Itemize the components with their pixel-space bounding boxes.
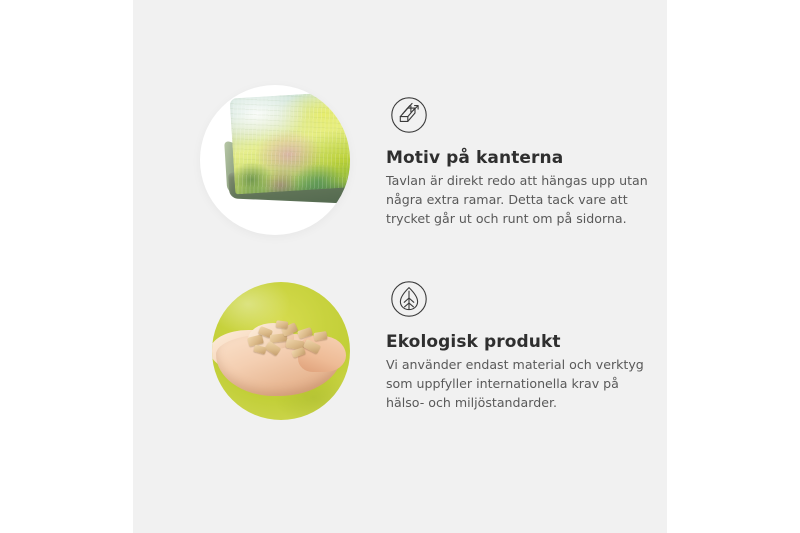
feature-block-ekologisk-produkt: Ekologisk produkt Vi använder endast mat… (133, 262, 667, 442)
product-feature-panel: Motiv på kanterna Tavlan är direkt redo … (0, 0, 800, 533)
feature-text-motiv-pa-kanterna: Motiv på kanterna Tavlan är direkt redo … (386, 148, 658, 228)
canvas-wrap-edge-icon (388, 94, 430, 136)
wood-chips-pile (246, 320, 330, 358)
feature-description: Vi använder endast material och verktyg … (386, 356, 658, 412)
hands-illustration (212, 282, 350, 420)
canvas-print-illustration (224, 91, 350, 214)
feature-image-canvas-print (200, 85, 350, 235)
feature-image-hands-wood-chips (212, 282, 350, 420)
content-panel: Motiv på kanterna Tavlan är direkt redo … (133, 0, 667, 533)
leaf-icon (388, 278, 430, 320)
feature-title: Motiv på kanterna (386, 148, 658, 168)
feature-text-ekologisk-produkt: Ekologisk produkt Vi använder endast mat… (386, 332, 658, 412)
feature-title: Ekologisk produkt (386, 332, 658, 352)
canvas-texture (230, 91, 350, 194)
feature-description: Tavlan är direkt redo att hängas upp uta… (386, 172, 658, 228)
feature-block-motiv-pa-kanterna: Motiv på kanterna Tavlan är direkt redo … (133, 78, 667, 258)
